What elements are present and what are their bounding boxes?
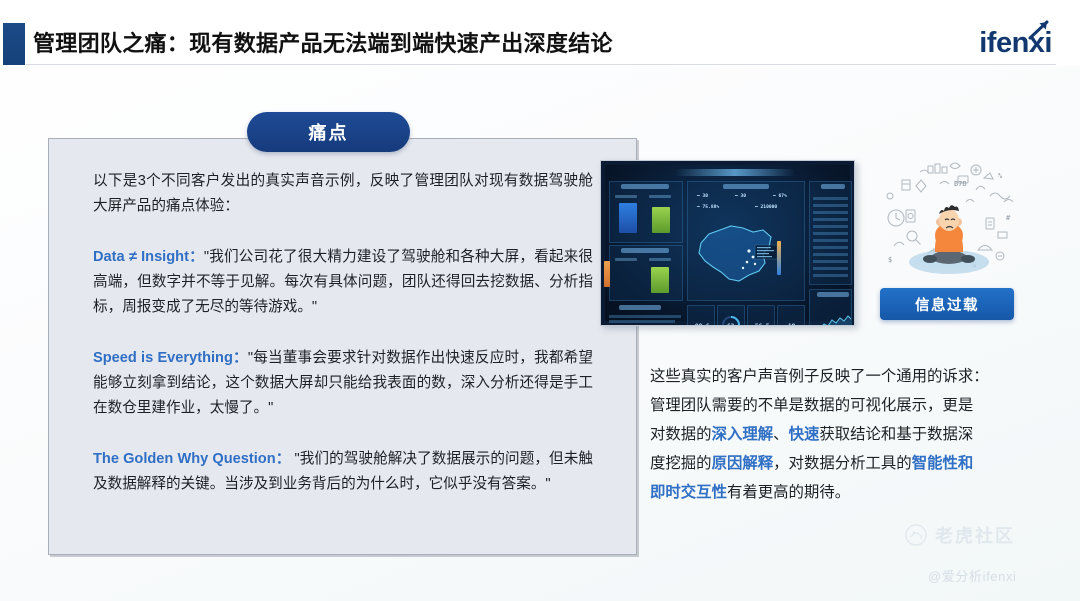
ifenxi-logo: ifenxi: [979, 22, 1052, 64]
summary-line-3c: 获取结论和基于数据深: [819, 426, 973, 443]
summary-highlight-cause-explanation: 原因解释: [712, 455, 774, 472]
information-overload-button-label: 信息过载: [915, 294, 979, 315]
dashboard-table-row: [813, 246, 848, 249]
dashboard-screenshot: ━ 30 ━ 30 ━ 67% ━ 75.88% ━ 210000: [600, 160, 855, 326]
information-overload-button[interactable]: 信息过载: [880, 288, 1014, 320]
dashboard-bar-green: [652, 207, 670, 233]
china-map-icon: [687, 217, 783, 291]
dashboard-list-caption: [619, 305, 661, 310]
summary-line-4b: ，对数据分析工具的: [773, 455, 912, 472]
summary-line-4a: 度挖掘的: [650, 455, 712, 472]
dashboard-table-row: [813, 211, 848, 214]
watermark-community: 老虎社区: [905, 522, 1015, 548]
pain-quote-1-label: Data ≠ Insight：: [93, 249, 204, 265]
dashboard-bar-orange: [604, 261, 610, 287]
dashboard-panel-center-caption: [723, 184, 769, 189]
dashboard-mini-label: [649, 258, 671, 261]
dashboard-kpi-value: ━ 210000: [755, 205, 777, 210]
dashboard-bar-blue: [619, 203, 637, 233]
svg-text:%: %: [998, 172, 1003, 180]
title-accent-bar: [3, 23, 25, 65]
pain-points-body: 以下是3个不同客户发出的真实声音示例，反映了管理团队对现有数据驾驶舱大屏产品的痛…: [93, 169, 593, 497]
dashboard-kpi-tile-value: 56.5: [755, 323, 769, 326]
dashboard-table-row: [813, 232, 848, 235]
watermark-community-label: 老虎社区: [935, 522, 1015, 548]
pain-points-badge-label: 痛点: [309, 119, 349, 145]
dashboard-bar-green: [651, 267, 669, 293]
dashboard-legend-gauge: [777, 241, 781, 275]
dashboard-mini-label: [615, 258, 637, 261]
summary-line-1: 这些真实的客户声音例子反映了一个通用的诉求：: [650, 368, 989, 385]
dashboard-table-row: [813, 225, 848, 228]
dashboard-mini-label: [649, 195, 671, 198]
dashboard-table-row: [813, 267, 848, 270]
pain-points-card: 以下是3个不同客户发出的真实声音示例，反映了管理团队对现有数据驾驶舱大屏产品的痛…: [48, 138, 637, 555]
dashboard-panel-left-top-caption: [621, 184, 669, 189]
summary-line-2: 管理团队需要的不单是数据的可视化展示，更是: [650, 397, 973, 414]
svg-text:$: $: [888, 256, 892, 264]
slide-header: 管理团队之痛：现有数据产品无法端到端快速产出深度结论 ifenxi: [0, 0, 1080, 66]
dashboard-kpi-value: ━ 30: [697, 194, 708, 199]
dashboard-kpi-value: ━ 30: [735, 194, 746, 199]
header-divider: [26, 64, 1056, 65]
dashboard-panel-left-mid: [609, 245, 683, 301]
slide-root: 管理团队之痛：现有数据产品无法端到端快速产出深度结论 ifenxi 以下是3个不…: [0, 0, 1080, 601]
pain-points-badge: 痛点: [247, 112, 410, 152]
dashboard-panel-right-bottom-caption: [817, 292, 849, 297]
dashboard-table-row: [813, 197, 848, 200]
summary-highlight-intelligence: 智能性和: [912, 455, 974, 472]
pain-intro-paragraph: 以下是3个不同客户发出的真实声音示例，反映了管理团队对现有数据驾驶舱大屏产品的痛…: [93, 169, 593, 219]
dashboard-panel-right-top-caption: [821, 184, 845, 189]
dashboard-screenshot-canvas: ━ 30 ━ 30 ━ 67% ━ 75.88% ━ 210000: [605, 165, 850, 321]
pain-quote-3-label: The Golden Why Question：: [93, 451, 290, 467]
dashboard-table-row: [813, 239, 848, 242]
summary-line-3b: 、: [773, 426, 788, 443]
page-title: 管理团队之痛：现有数据产品无法端到端快速产出深度结论: [33, 24, 613, 64]
pain-quote-2: Speed is Everything："每当董事会要求针对数据作出快速反应时，…: [93, 346, 593, 421]
watermark-handle: @爱分析ifenxi: [928, 566, 1017, 585]
dashboard-title-bar: [675, 169, 795, 176]
dashboard-kpi-tile-value: 98.6: [695, 323, 709, 326]
dashboard-donut-gauge-icon: [721, 315, 741, 326]
dashboard-table-row: [813, 253, 848, 256]
summary-highlight-deep-understanding: 深入理解: [712, 426, 774, 443]
dashboard-list-row: [609, 315, 681, 318]
dashboard-table-row: [813, 274, 848, 277]
information-overload-illustration: B7B % $ @ #: [880, 158, 1018, 280]
svg-text:#: #: [1006, 214, 1011, 222]
pain-quote-3: The Golden Why Question： "我们的驾驶舱解决了数据展示的…: [93, 447, 593, 497]
summary-highlight-realtime-interaction: 即时交互性: [650, 484, 727, 501]
dashboard-list-row: [609, 325, 679, 326]
summary-line-5b: 有着更高的期待。: [727, 484, 850, 501]
dashboard-mini-label: [615, 195, 637, 198]
logo-swoosh-icon: [1028, 20, 1050, 40]
tiger-community-logo-icon: [905, 524, 927, 546]
summary-highlight-fast: 快速: [789, 426, 820, 443]
dashboard-table-row: [813, 260, 848, 263]
dashboard-kpi-tile-value: 18: [788, 323, 795, 326]
dashboard-table-row: [813, 218, 848, 221]
dashboard-panel-left-mid-caption: [621, 248, 669, 253]
pain-quote-1: Data ≠ Insight："我们公司花了很大精力建设了驾驶舱和各种大屏，看起…: [93, 245, 593, 320]
dashboard-table-row: [813, 204, 848, 207]
summary-paragraph: 这些真实的客户声音例子反映了一个通用的诉求： 管理团队需要的不单是数据的可视化展…: [650, 362, 1042, 507]
dashboard-list-row: [609, 320, 675, 323]
summary-line-3a: 对数据的: [650, 426, 712, 443]
dashboard-kpi-value: ━ 67%: [773, 194, 787, 199]
dashboard-sparkline-icon: [811, 313, 851, 326]
svg-text:B7B: B7B: [954, 180, 967, 188]
dashboard-kpi-value: ━ 75.88%: [697, 205, 719, 210]
pain-quote-2-label: Speed is Everything：: [93, 350, 248, 366]
